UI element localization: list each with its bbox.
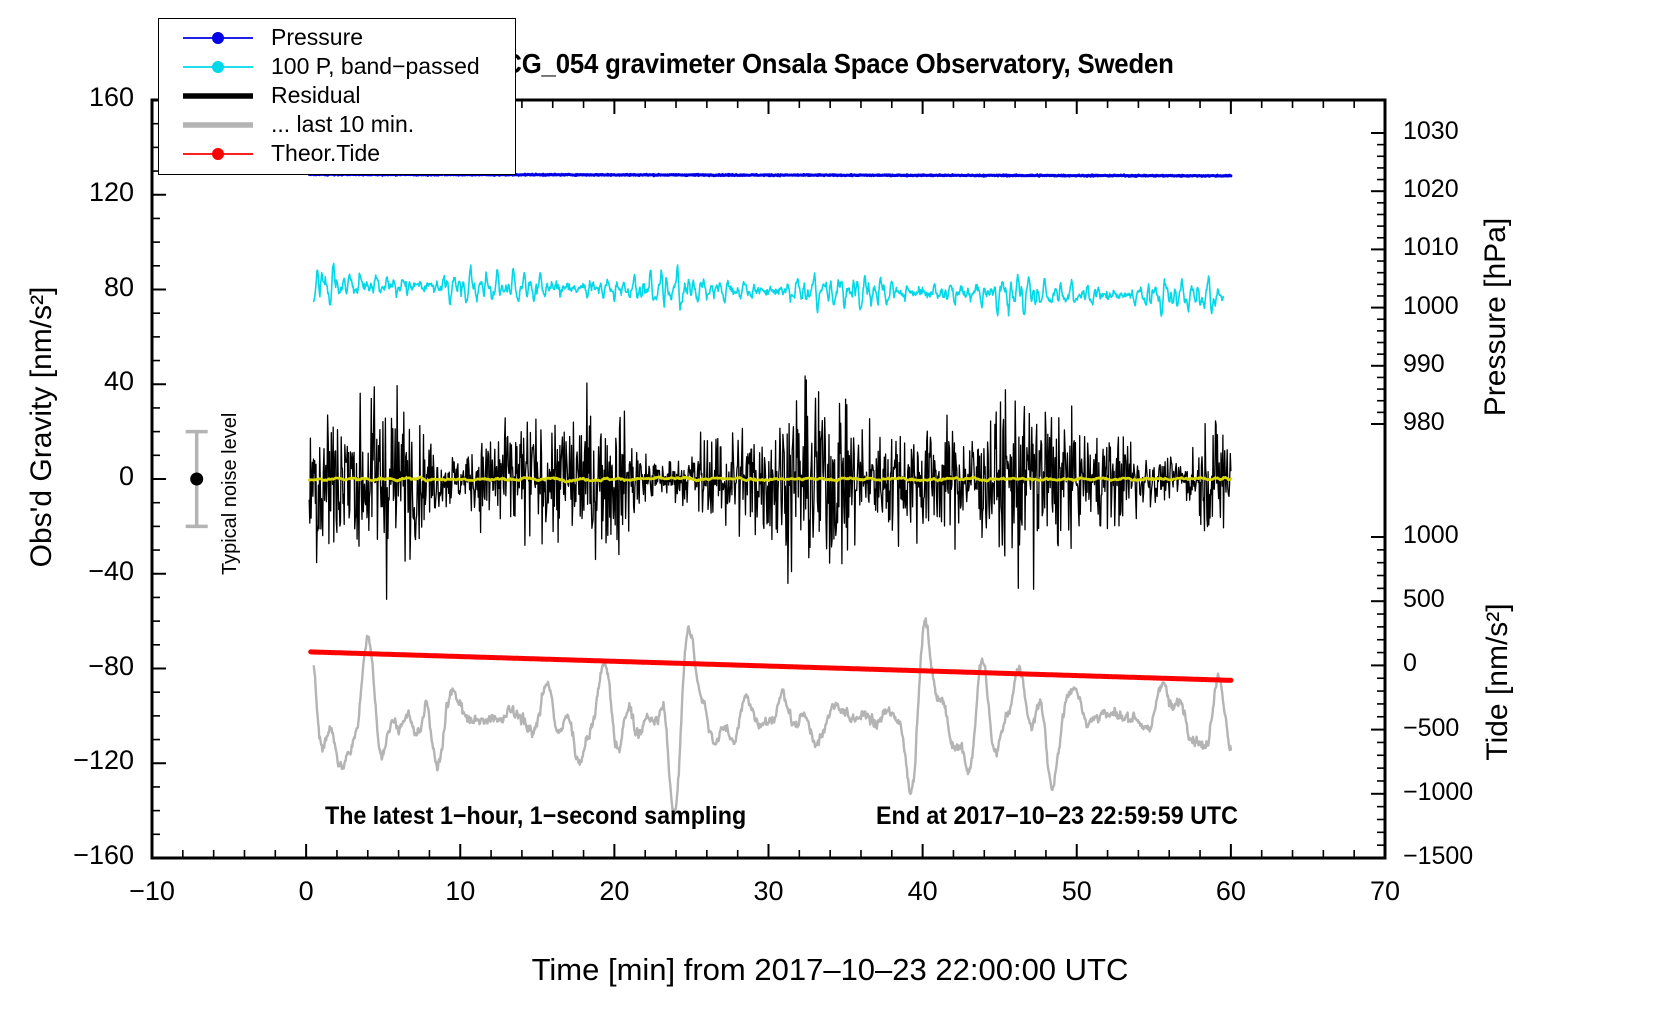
x-tick-label: 50 <box>1022 876 1132 907</box>
series-theor-tide <box>311 652 1231 680</box>
legend-item-label: Residual <box>271 84 361 107</box>
y-tick-label-tide: −500 <box>1403 714 1533 743</box>
legend-item-residual[interactable]: Residual <box>159 81 515 110</box>
legend-swatch-icon <box>181 57 255 77</box>
x-tick-label: −10 <box>97 876 207 907</box>
x-tick-label: 40 <box>868 876 978 907</box>
series-last-10-min <box>314 618 1231 811</box>
end-time-note: End at 2017−10−23 22:59:59 UTC <box>876 802 1238 831</box>
y-tick-label-left: 160 <box>24 82 134 113</box>
legend-swatch-icon <box>181 115 255 135</box>
y-tick-label-left: 0 <box>24 461 134 492</box>
y-tick-label-left: −160 <box>24 840 134 871</box>
y-tick-label-pressure: 980 <box>1403 408 1533 437</box>
legend-item-label: Pressure <box>271 26 363 49</box>
legend-item-theor-tide[interactable]: Theor.Tide <box>159 139 515 168</box>
legend-swatch-icon <box>181 28 255 48</box>
legend-item-label: ... last 10 min. <box>271 113 414 136</box>
x-tick-label: 0 <box>251 876 361 907</box>
x-tick-label: 20 <box>559 876 669 907</box>
y-tick-label-left: −40 <box>24 556 134 587</box>
y-tick-label-left: 120 <box>24 177 134 208</box>
x-tick-label: 70 <box>1330 876 1440 907</box>
y-tick-label-left: −80 <box>24 651 134 682</box>
series-100-p-band-passed <box>314 264 1223 317</box>
y-tick-label-pressure: 1010 <box>1403 233 1533 262</box>
x-tick-label: 30 <box>714 876 824 907</box>
y-tick-label-tide: −1000 <box>1403 778 1533 807</box>
y-tick-label-pressure: 1020 <box>1403 175 1533 204</box>
legend-item-100-p-band-passed[interactable]: 100 P, band−passed <box>159 52 515 81</box>
y-tick-label-tide: −1500 <box>1403 842 1533 871</box>
legend-swatch-icon <box>181 144 255 164</box>
typical-noise-bar <box>186 432 208 527</box>
y-tick-label-left: 40 <box>24 366 134 397</box>
y-tick-label-pressure: 990 <box>1403 350 1533 379</box>
legend-item-label: 100 P, band−passed <box>271 55 480 78</box>
x-tick-label: 60 <box>1176 876 1286 907</box>
x-tick-label: 10 <box>405 876 515 907</box>
series-residual <box>309 376 1231 599</box>
legend[interactable]: Pressure100 P, band−passedResidual... la… <box>158 18 516 175</box>
y-tick-label-left: 80 <box>24 272 134 303</box>
legend-item-label: Theor.Tide <box>271 142 380 165</box>
y-tick-label-pressure: 1000 <box>1403 292 1533 321</box>
legend-swatch-icon <box>181 86 255 106</box>
y-tick-label-pressure: 1030 <box>1403 117 1533 146</box>
chart-canvas: SCG_054 gravimeter Onsala Space Observat… <box>0 0 1660 1020</box>
legend-item-last-10-min[interactable]: ... last 10 min. <box>159 110 515 139</box>
legend-item-pressure[interactable]: Pressure <box>159 23 515 52</box>
noise-level-label: Typical noise level <box>219 413 242 575</box>
sampling-note: The latest 1−hour, 1−second sampling <box>325 802 746 831</box>
y-tick-label-tide: 1000 <box>1403 521 1533 550</box>
y-tick-label-tide: 0 <box>1403 649 1533 678</box>
y-tick-label-tide: 500 <box>1403 585 1533 614</box>
y-tick-label-left: −120 <box>24 745 134 776</box>
